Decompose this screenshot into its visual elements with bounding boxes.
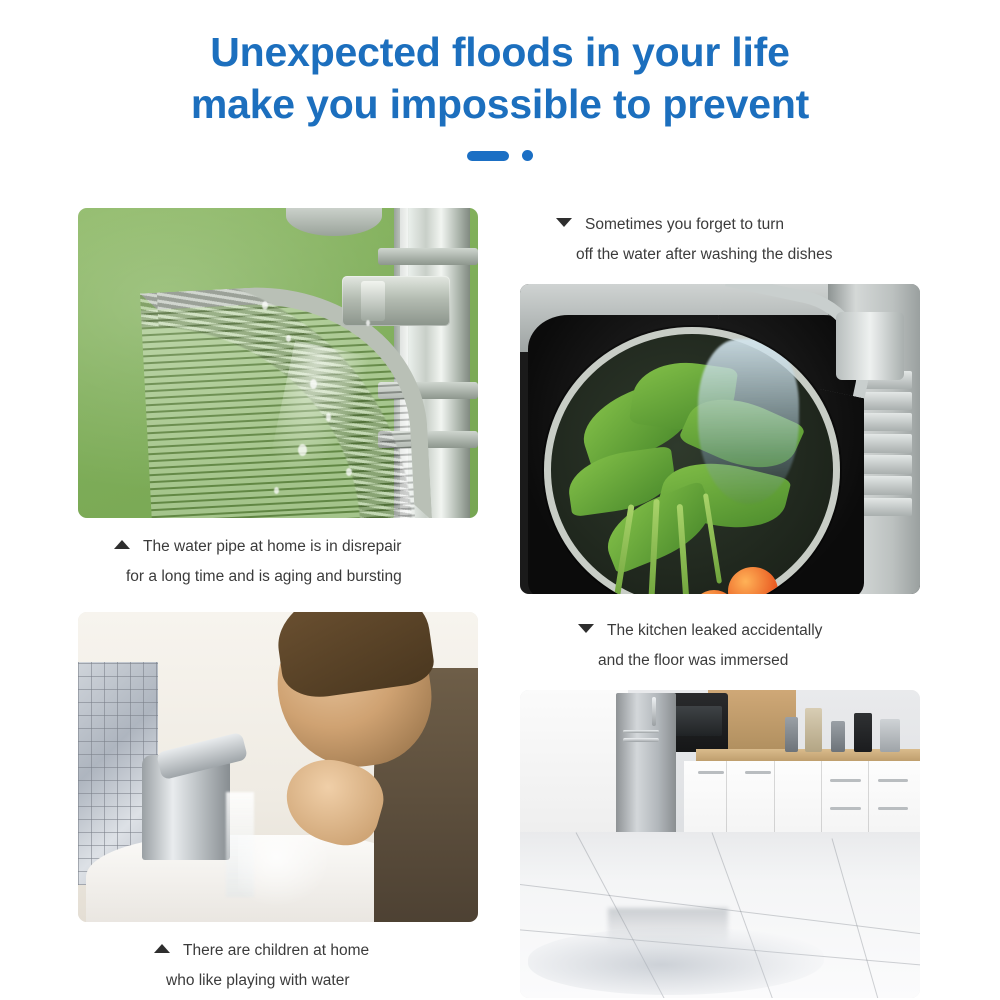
illustration-leaking-hose	[78, 208, 478, 518]
caption-line-2: and the floor was immersed	[542, 646, 920, 676]
page-title-line-1: Unexpected floods in your life	[0, 26, 1000, 78]
pager-active-bar[interactable]	[467, 151, 509, 161]
caption-children-water: There are children at home who like play…	[78, 936, 478, 996]
caption-line-1: The kitchen leaked accidentally	[542, 616, 920, 646]
page-title-line-2: make you impossible to prevent	[0, 78, 1000, 130]
pager-indicator[interactable]	[0, 150, 1000, 161]
caption-kitchen-leaked: The kitchen leaked accidentally and the …	[520, 616, 920, 676]
pager-dot[interactable]	[522, 150, 533, 161]
promo-page: Unexpected floods in your life make you …	[0, 0, 1000, 1000]
caption-line-1: Sometimes you forget to turn	[520, 210, 920, 240]
caption-line-2: off the water after washing the dishes	[520, 240, 920, 270]
illustration-child-washing-hands	[78, 612, 478, 922]
card-kitchen-leaked[interactable]: The kitchen leaked accidentally and the …	[520, 616, 920, 998]
triangle-down-icon	[556, 218, 572, 227]
card-forget-to-turn-off-water[interactable]: Sometimes you forget to turn off the wat…	[520, 210, 920, 594]
photo-child-at-sink[interactable]	[78, 612, 478, 922]
card-water-pipe-disrepair[interactable]: The water pipe at home is in disrepair f…	[78, 208, 478, 592]
caption-line-2: for a long time and is aging and burstin…	[78, 562, 478, 592]
caption-line-1: There are children at home	[118, 936, 478, 966]
triangle-down-icon	[578, 624, 594, 633]
triangle-up-icon	[154, 944, 170, 953]
triangle-up-icon	[114, 540, 130, 549]
photo-water-pipe[interactable]	[78, 208, 478, 518]
photo-flooded-kitchen[interactable]	[520, 690, 920, 998]
page-title: Unexpected floods in your life make you …	[0, 26, 1000, 130]
caption-forget-water: Sometimes you forget to turn off the wat…	[520, 210, 920, 270]
card-children-playing-with-water[interactable]: There are children at home who like play…	[78, 612, 478, 996]
illustration-flooded-kitchen	[520, 690, 920, 998]
illustration-running-sink	[520, 284, 920, 594]
photo-sink-vegetables[interactable]	[520, 284, 920, 594]
caption-line-2: who like playing with water	[118, 966, 478, 996]
caption-water-pipe: The water pipe at home is in disrepair f…	[78, 532, 478, 592]
caption-line-1: The water pipe at home is in disrepair	[78, 532, 478, 562]
